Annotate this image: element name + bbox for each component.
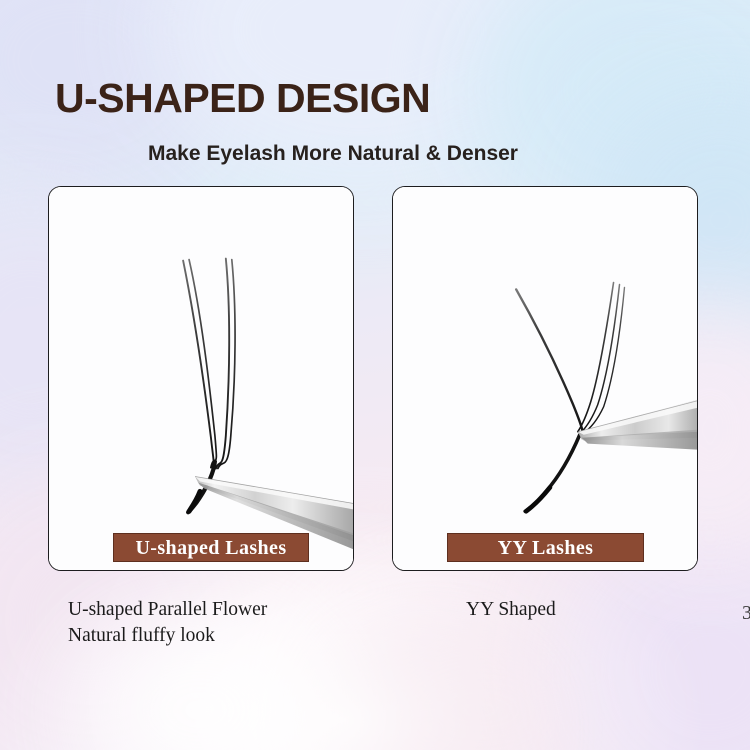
product-card-yy[interactable]: YY Lashes — [392, 186, 698, 571]
badge-yy-lashes: YY Lashes — [447, 533, 644, 562]
promo-page: U-SHAPED DESIGN Make Eyelash More Natura… — [0, 0, 750, 750]
badge-u-shaped-lashes: U-shaped Lashes — [113, 533, 309, 562]
caption-yy: YY Shaped — [466, 597, 556, 623]
page-number: 3 — [742, 602, 750, 625]
badge-label: YY Lashes — [498, 538, 594, 558]
product-card-u-shaped[interactable]: U-shaped Lashes — [48, 186, 354, 571]
page-title: U-SHAPED DESIGN — [55, 75, 430, 122]
page-subtitle: Make Eyelash More Natural & Denser — [148, 142, 518, 166]
badge-label: U-shaped Lashes — [135, 538, 286, 558]
caption-u-shaped: U-shaped Parallel Flower Natural fluffy … — [68, 597, 267, 649]
yy-lash-photo — [393, 187, 697, 570]
u-shaped-lash-photo — [49, 187, 353, 570]
